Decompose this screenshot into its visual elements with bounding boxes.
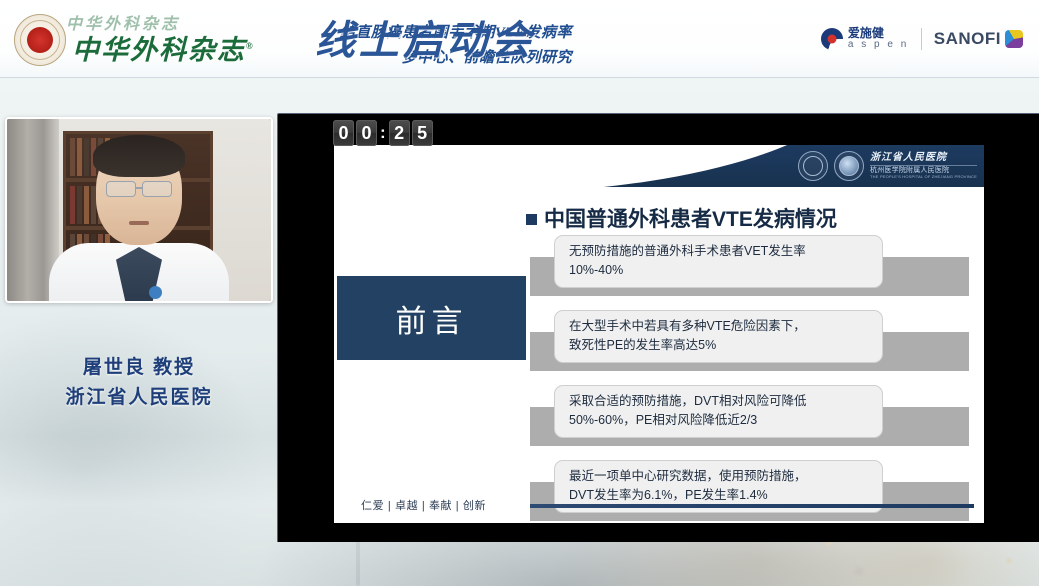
slide-heading: 中国普通外科患者VTE发病情况 [526, 203, 837, 233]
hospital-name-tertiary: THE PEOPLE'S HOSPITAL OF ZHEJIANG PROVIN… [870, 175, 977, 180]
slide-footer-motto: 仁爱 | 卓越 | 奉献 | 创新 [361, 497, 486, 513]
sanofi-name: SANOFI [934, 29, 1001, 49]
presenter-avatar [79, 141, 199, 303]
bullet-list: 无预防措施的普通外科手术患者VET发生率 10%-40% 在大型手术中若具有多种… [530, 235, 974, 523]
bullet-line: 50%-60%，PE相对风险降低近2/3 [569, 411, 870, 430]
timer-digit: 0 [333, 120, 354, 146]
slide-section-label: 前言 [337, 276, 526, 360]
sponsor-divider [921, 28, 922, 50]
hospital-logo-group: 浙江省人民医院 杭州医学院附属人民医院 THE PEOPLE'S HOSPITA… [798, 149, 977, 183]
bullet-line: 最近一项单中心研究数据，使用预防措施， [569, 467, 870, 486]
bullet-box: 无预防措施的普通外科手术患者VET发生率 10%-40% [554, 235, 883, 288]
bullet-square-icon [526, 214, 537, 225]
journal-seal-icon [14, 14, 66, 66]
mouth [129, 221, 149, 225]
slide-footer: 仁爱 | 卓越 | 奉献 | 创新 [334, 491, 984, 523]
presenter-caption: 屠世良 教授 浙江省人民医院 [0, 352, 278, 409]
hospital-name-primary: 浙江省人民医院 [870, 152, 977, 164]
hospital-name-rule [870, 165, 977, 166]
bullet-line: 采取合适的预防措施，DVT相对风险可降低 [569, 392, 870, 411]
timer-separator: : [379, 123, 387, 143]
bullet-row: 在大型手术中若具有多种VTE危险因素下， 致死性PE的发生率高达5% [530, 310, 974, 371]
id-badge [149, 286, 162, 299]
sponsor-logos: 爱施健 a s p e n SANOFI [821, 20, 1023, 58]
hospital-name-block: 浙江省人民医院 杭州医学院附属人民医院 THE PEOPLE'S HOSPITA… [870, 152, 977, 179]
presenter-organization: 浙江省人民医院 [0, 382, 278, 409]
glasses-bridge [136, 187, 142, 189]
bullet-row: 采取合适的预防措施，DVT相对风险可降低 50%-60%，PE相对风险降低近2/… [530, 385, 974, 446]
timer-digit: 0 [356, 120, 377, 146]
slide-heading-text: 中国普通外科患者VTE发病情况 [544, 208, 837, 231]
bullet-box: 在大型手术中若具有多种VTE危险因素下， 致死性PE的发生率高达5% [554, 310, 883, 363]
journal-name-text: 中华外科杂志 [72, 35, 246, 65]
sanofi-logo-icon [1005, 30, 1023, 48]
journal-name: 中华外科杂志® [72, 28, 255, 67]
presenter-video-tile[interactable] [5, 117, 273, 303]
hospital-crest-icon [798, 151, 828, 181]
aspen-logo: 爱施健 a s p e n [821, 27, 909, 50]
presenter-name: 屠世良 教授 [0, 352, 278, 379]
session-timer: 0 0 : 2 5 [333, 120, 433, 146]
bullet-line: 10%-40% [569, 261, 870, 280]
timer-digit: 2 [389, 120, 410, 146]
slide-header-band: 浙江省人民医院 杭州医学院附属人民医院 THE PEOPLE'S HOSPITA… [334, 145, 984, 187]
slide-footer-rule [530, 504, 974, 508]
event-header-bar: 中华外科杂志 中华外科杂志® 结直肠癌患者围手术期VTE发病率 多中心、前瞻性队… [0, 0, 1039, 78]
registered-mark: ® [246, 41, 255, 51]
aspen-logo-icon [821, 28, 843, 50]
presentation-slide[interactable]: 浙江省人民医院 杭州医学院附属人民医院 THE PEOPLE'S HOSPITA… [334, 145, 984, 523]
screen-share-area[interactable]: 0 0 : 2 5 浙江省人民医院 杭州医学院附属人民医院 THE PEOPLE… [277, 113, 1039, 542]
bullet-box: 采取合适的预防措施，DVT相对风险可降低 50%-60%，PE相对风险降低近2/… [554, 385, 883, 438]
sanofi-logo: SANOFI [934, 29, 1023, 49]
glasses-right-lens [142, 181, 172, 197]
journal-brand: 中华外科杂志 中华外科杂志® [10, 4, 250, 70]
aspen-name-en: a s p e n [848, 40, 909, 51]
timer-digit: 5 [412, 120, 433, 146]
slide-section-label-text: 前言 [396, 296, 468, 341]
bullet-line: 无预防措施的普通外科手术患者VET发生率 [569, 242, 870, 261]
event-title-main: 线上启动会 [315, 8, 535, 66]
bullet-row: 无预防措施的普通外科手术患者VET发生率 10%-40% [530, 235, 974, 296]
hospital-globe-icon [834, 151, 864, 181]
bullet-line: 在大型手术中若具有多种VTE危险因素下， [569, 317, 870, 336]
glasses-left-lens [106, 181, 136, 197]
bullet-line: 致死性PE的发生率高达5% [569, 336, 870, 355]
hair [93, 135, 185, 177]
